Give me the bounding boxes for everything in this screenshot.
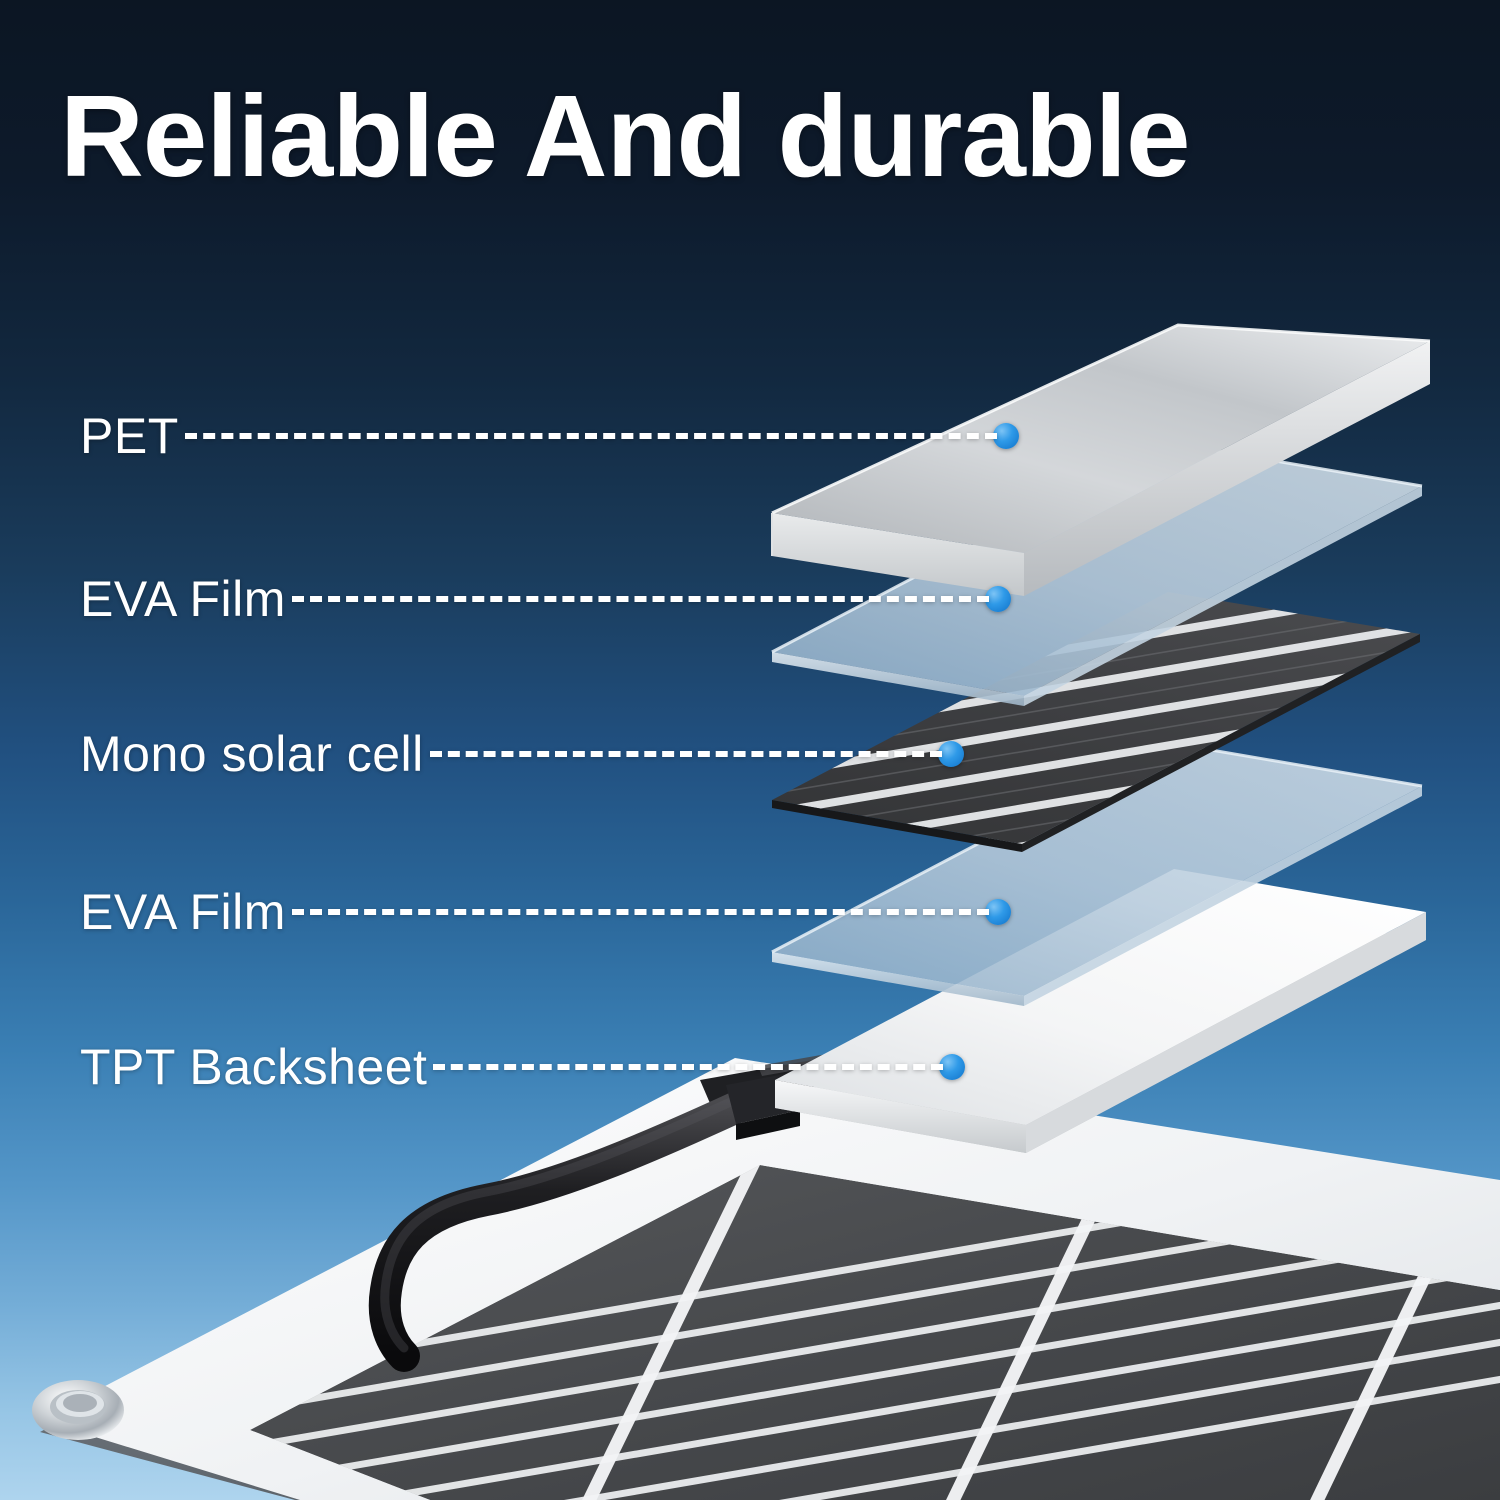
callout-label-eva-bottom: EVA Film [80,883,286,941]
leader-line-mono-cell [430,751,942,757]
callout-pet[interactable]: PET [80,404,1019,468]
infographic-canvas: Reliable And durable PET EVA Film Mono s… [0,0,1500,1500]
callout-label-pet: PET [80,407,179,465]
callout-eva-bottom[interactable]: EVA Film [80,880,1011,944]
callout-eva-top[interactable]: EVA Film [80,567,1011,631]
callout-label-mono-cell: Mono solar cell [80,725,424,783]
callout-mono-cell[interactable]: Mono solar cell [80,722,964,786]
leader-line-pet [185,433,997,439]
callout-label-eva-top: EVA Film [80,570,286,628]
callout-label-tpt-backsheet: TPT Backsheet [80,1038,427,1096]
leader-line-tpt-backsheet [433,1064,943,1070]
page-title: Reliable And durable [60,78,1189,194]
leader-line-eva-bottom [292,909,989,915]
leader-line-eva-top [292,596,989,602]
callout-tpt-backsheet[interactable]: TPT Backsheet [80,1035,965,1099]
